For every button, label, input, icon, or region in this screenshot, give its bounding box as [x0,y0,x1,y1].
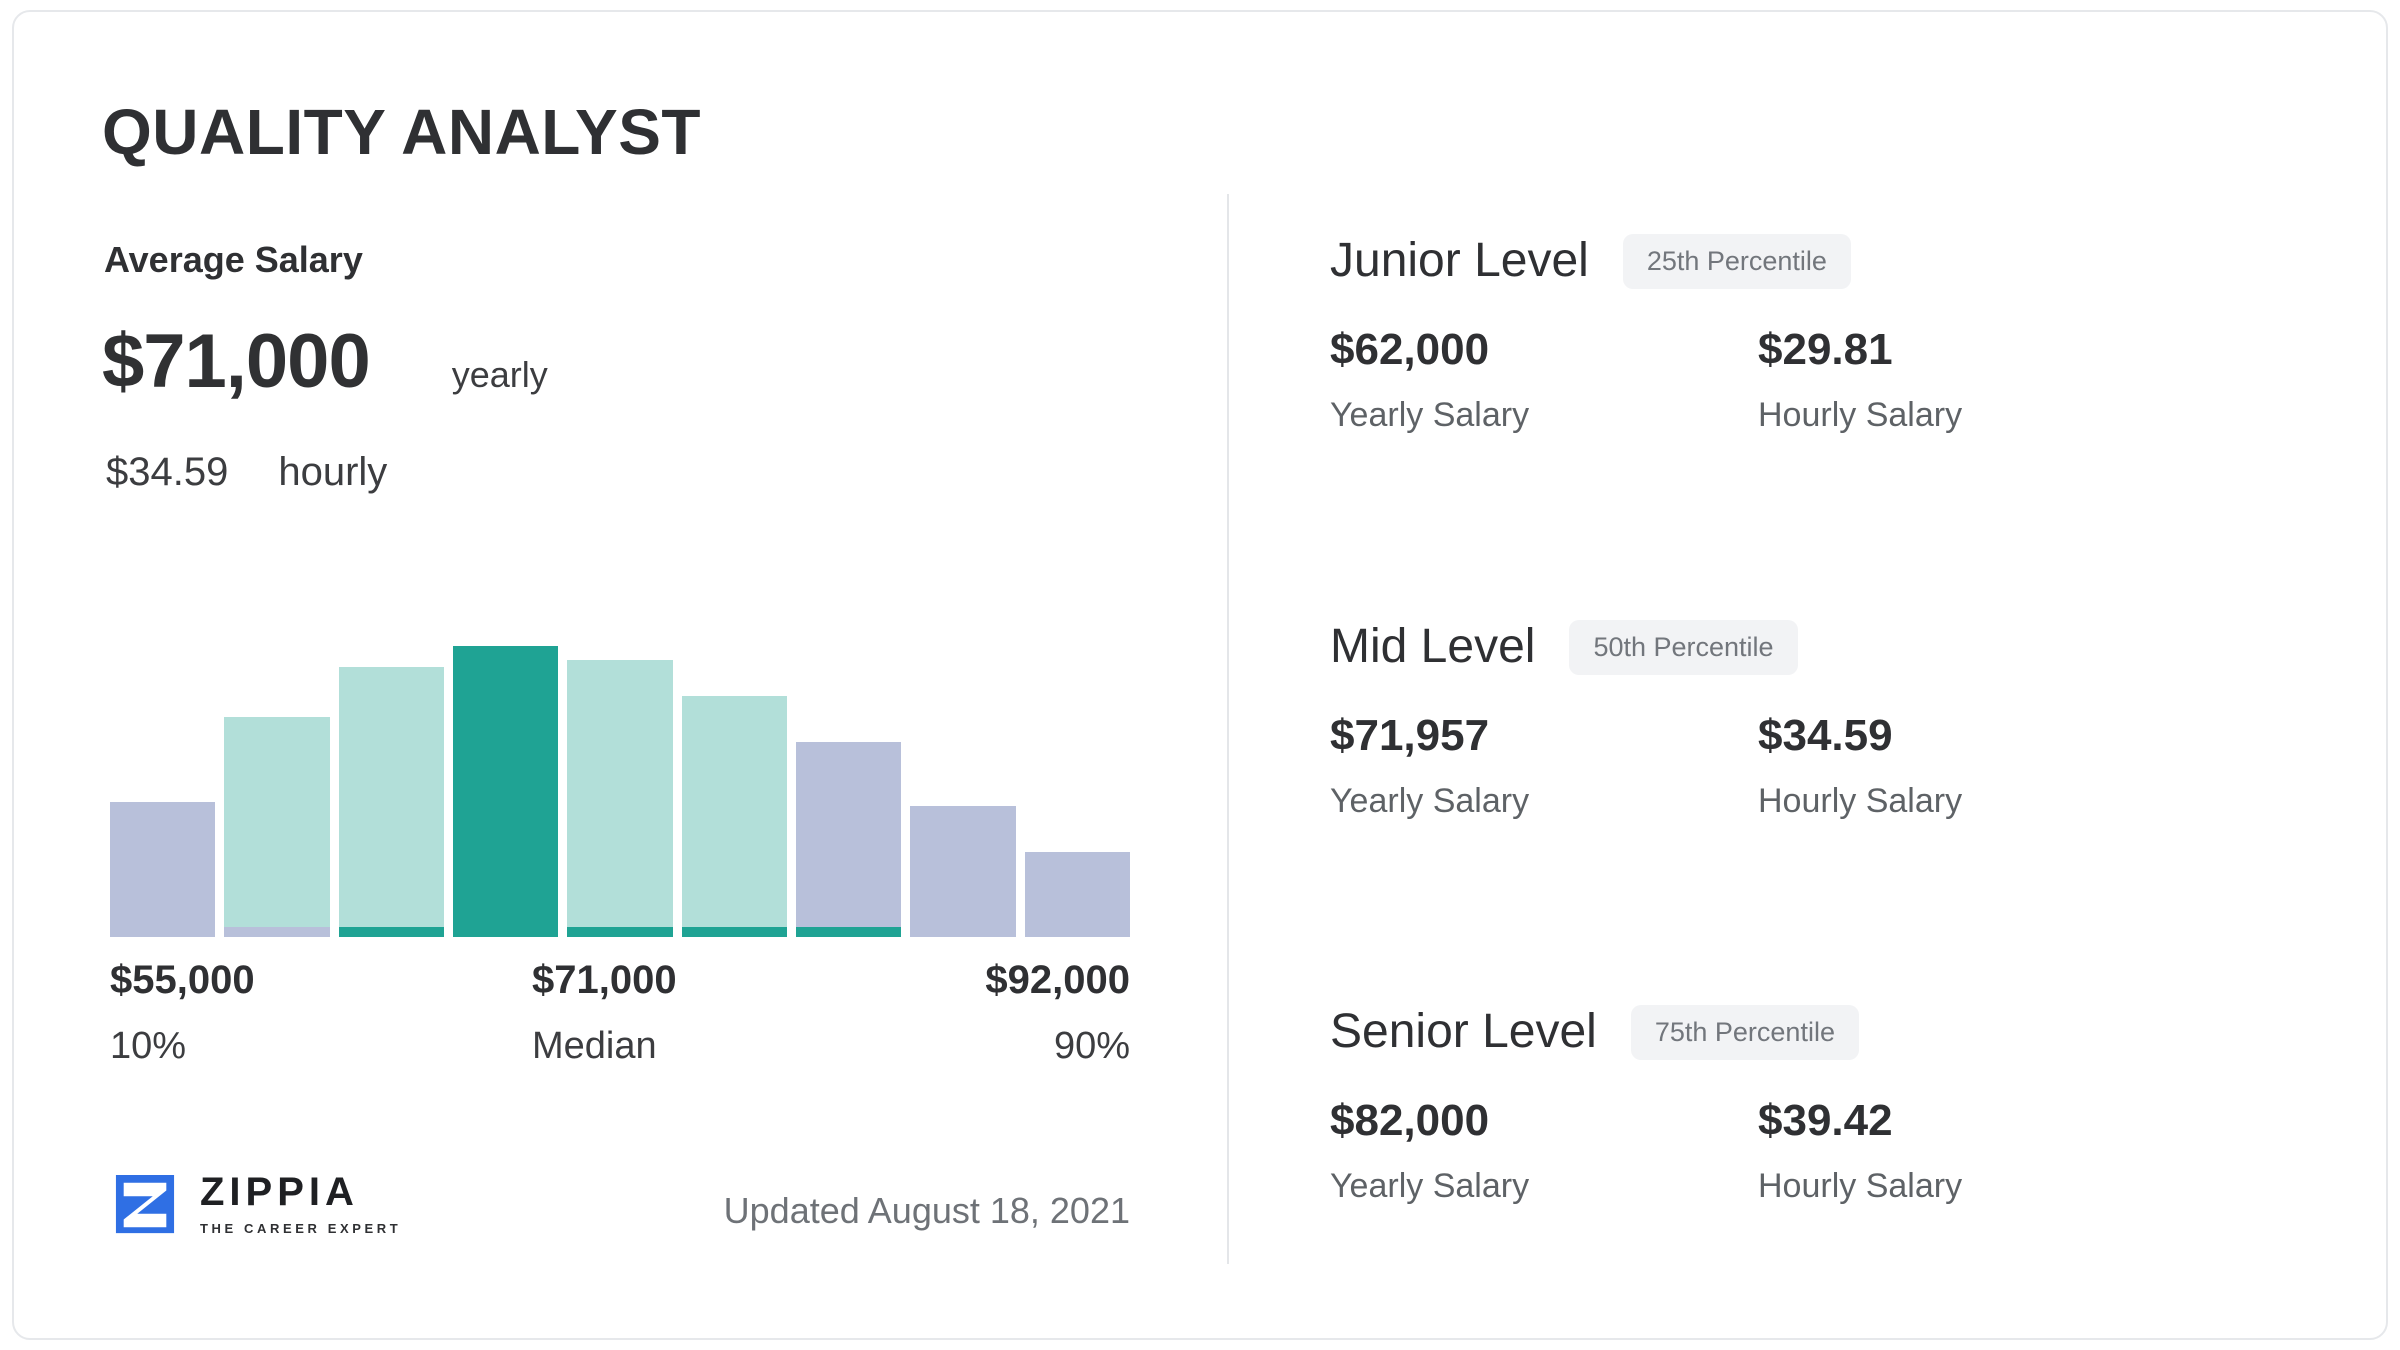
average-salary-yearly-value: $71,000 [102,324,370,400]
hourly-salary-value-junior-level: $29.81 [1758,328,1962,372]
axis-label-low: $55,000 10% [110,960,255,1065]
histogram-bar-accent [567,927,672,937]
average-salary-label: Average Salary [104,242,363,278]
histogram-bar-median [453,646,558,937]
hourly-salary-senior-level: $39.42Hourly Salary [1758,1099,1962,1203]
level-header-senior-level: Senior Level75th Percentile [1330,995,2330,1069]
axis-label-high: $92,000 90% [985,960,1130,1065]
percentile-badge-junior-level: 25th Percentile [1623,234,1851,289]
hourly-salary-value-senior-level: $39.42 [1758,1099,1962,1143]
histogram-bar-accent [339,927,444,937]
yearly-salary-label-senior-level: Yearly Salary [1330,1169,1529,1203]
axis-low-percentile: 10% [110,1027,255,1065]
zippia-logo[interactable]: ZIPPIA THE CAREER EXPERT [114,1172,401,1235]
average-salary-hourly-period: hourly [278,452,387,492]
axis-median-percentile: Median [532,1027,677,1065]
zippia-wordmark: ZIPPIA [200,1172,401,1212]
percentile-badge-senior-level: 75th Percentile [1631,1005,1859,1060]
page-title: QUALITY ANALYST [102,100,701,164]
hourly-salary-label-junior-level: Hourly Salary [1758,398,1962,432]
zippia-logo-icon [114,1173,176,1235]
histogram-bar [567,660,672,937]
level-stats-senior-level: $82,000Yearly Salary$39.42Hourly Salary [1330,1099,2330,1219]
yearly-salary-value-junior-level: $62,000 [1330,328,1529,372]
hourly-salary-mid-level: $34.59Hourly Salary [1758,714,1962,818]
experience-levels-panel: Junior Level25th Percentile$62,000Yearly… [1227,12,2386,1338]
level-block-senior-level: Senior Level75th Percentile$82,000Yearly… [1330,995,2330,1219]
hourly-salary-label-senior-level: Hourly Salary [1758,1169,1962,1203]
histogram-bar-accent [224,927,329,937]
level-header-junior-level: Junior Level25th Percentile [1330,224,2330,298]
axis-low-value: $55,000 [110,960,255,1000]
yearly-salary-senior-level: $82,000Yearly Salary [1330,1099,1529,1203]
salary-summary-panel: QUALITY ANALYST Average Salary $71,000 y… [14,12,1219,1338]
yearly-salary-mid-level: $71,957Yearly Salary [1330,714,1529,818]
average-salary-yearly-row: $71,000 yearly [102,324,548,400]
yearly-salary-label-junior-level: Yearly Salary [1330,398,1529,432]
salary-distribution-histogram [110,582,1130,937]
level-block-junior-level: Junior Level25th Percentile$62,000Yearly… [1330,224,2330,448]
card-footer: ZIPPIA THE CAREER EXPERT Updated August … [110,1172,1130,1262]
axis-high-percentile: 90% [985,1027,1130,1065]
histogram-bar [796,742,901,937]
zippia-tagline: THE CAREER EXPERT [200,1222,401,1235]
updated-date: Updated August 18, 2021 [724,1190,1130,1232]
hourly-salary-label-mid-level: Hourly Salary [1758,784,1962,818]
histogram-bar [1025,852,1130,937]
level-name-senior-level: Senior Level [1330,1008,1597,1056]
average-salary-hourly-row: $34.59 hourly [106,452,387,492]
histogram-bar [110,802,215,937]
level-stats-mid-level: $71,957Yearly Salary$34.59Hourly Salary [1330,714,2330,834]
percentile-badge-mid-level: 50th Percentile [1569,620,1797,675]
level-header-mid-level: Mid Level50th Percentile [1330,610,2330,684]
hourly-salary-value-mid-level: $34.59 [1758,714,1962,758]
level-name-junior-level: Junior Level [1330,237,1589,285]
level-name-mid-level: Mid Level [1330,623,1535,671]
level-block-mid-level: Mid Level50th Percentile$71,957Yearly Sa… [1330,610,2330,834]
average-salary-hourly-value: $34.59 [106,452,228,492]
axis-median-value: $71,000 [532,960,677,1000]
histogram-bar-accent [796,927,901,937]
histogram-axis-labels: $55,000 10% $71,000 Median $92,000 90% [110,960,1130,1080]
axis-label-median: $71,000 Median [532,960,677,1065]
axis-high-value: $92,000 [985,960,1130,1000]
yearly-salary-value-mid-level: $71,957 [1330,714,1529,758]
histogram-bar [224,717,329,937]
yearly-salary-label-mid-level: Yearly Salary [1330,784,1529,818]
hourly-salary-junior-level: $29.81Hourly Salary [1758,328,1962,432]
histogram-bar [910,806,1015,937]
level-stats-junior-level: $62,000Yearly Salary$29.81Hourly Salary [1330,328,2330,448]
histogram-bar-accent [682,927,787,937]
salary-card: QUALITY ANALYST Average Salary $71,000 y… [12,10,2388,1340]
yearly-salary-junior-level: $62,000Yearly Salary [1330,328,1529,432]
average-salary-yearly-period: yearly [452,357,548,393]
histogram-bar [682,696,787,937]
yearly-salary-value-senior-level: $82,000 [1330,1099,1529,1143]
histogram-bar [339,667,444,937]
